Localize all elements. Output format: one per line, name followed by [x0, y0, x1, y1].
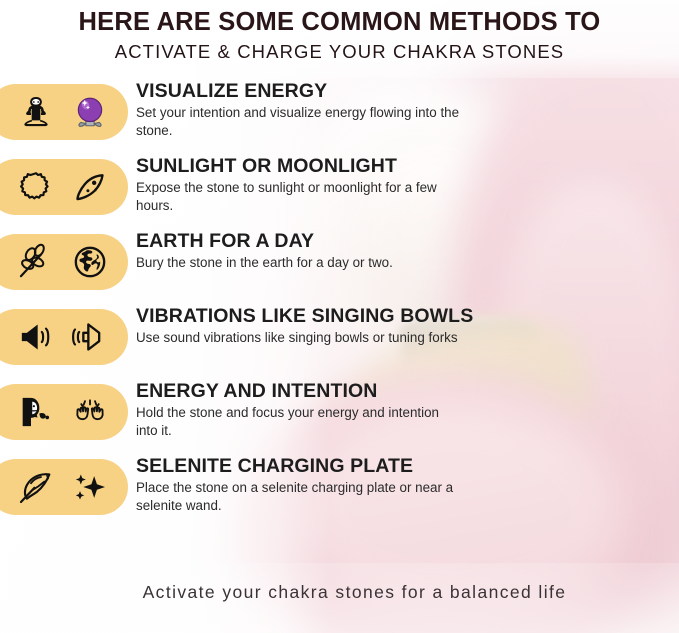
method-text: SUNLIGHT OR MOONLIGHT Expose the stone t…: [136, 155, 671, 214]
speaker-right-icon: [70, 317, 110, 357]
feather-quill-icon: [16, 467, 56, 507]
page-title: HERE ARE SOME COMMON METHODS TO: [0, 9, 679, 36]
method-description: Use sound vibrations like singing bowls …: [136, 329, 466, 346]
speaker-left-icon: [16, 317, 56, 357]
method-icon-badge: [0, 84, 128, 140]
method-icon-badge: [0, 159, 128, 215]
method-row: EARTH FOR A DAY Bury the stone in the ea…: [0, 228, 679, 303]
footer-tagline: Activate your chakra stones for a balanc…: [143, 582, 567, 603]
method-row: VIBRATIONS LIKE SINGING BOWLS Use sound …: [0, 303, 679, 378]
sparkles-icon: [70, 467, 110, 507]
infographic-page: HERE ARE SOME COMMON METHODS TO ACTIVATE…: [0, 0, 679, 633]
footer: Activate your chakra stones for a balanc…: [0, 582, 679, 603]
blowing-face-icon: [16, 392, 56, 432]
method-title: SUNLIGHT OR MOONLIGHT: [136, 155, 671, 177]
method-description: Set your intention and visualize energy …: [136, 104, 466, 138]
method-row: SELENITE CHARGING PLATE Place the stone …: [0, 453, 679, 528]
page-subtitle: ACTIVATE & CHARGE YOUR CHAKRA STONES: [0, 42, 679, 62]
method-description: Expose the stone to sunlight or moonligh…: [136, 179, 466, 213]
method-text: VIBRATIONS LIKE SINGING BOWLS Use sound …: [136, 305, 671, 347]
method-icon-badge: [0, 459, 128, 515]
method-icon-badge: [0, 234, 128, 290]
method-title: VIBRATIONS LIKE SINGING BOWLS: [136, 305, 671, 327]
globe-icon: [70, 242, 110, 282]
sun-icon: [16, 167, 56, 207]
method-title: ENERGY AND INTENTION: [136, 380, 671, 402]
method-row: SUNLIGHT OR MOONLIGHT Expose the stone t…: [0, 153, 679, 228]
method-title: EARTH FOR A DAY: [136, 230, 671, 252]
method-text: EARTH FOR A DAY Bury the stone in the ea…: [136, 230, 671, 272]
method-icon-badge: [0, 309, 128, 365]
method-title: SELENITE CHARGING PLATE: [136, 455, 671, 477]
method-row: VISUALIZE ENERGY Set your intention and …: [0, 78, 679, 153]
method-text: VISUALIZE ENERGY Set your intention and …: [136, 80, 671, 139]
header: HERE ARE SOME COMMON METHODS TO ACTIVATE…: [0, 0, 679, 62]
method-description: Hold the stone and focus your energy and…: [136, 404, 458, 438]
raised-hands-icon: [70, 392, 110, 432]
methods-list: VISUALIZE ENERGY Set your intention and …: [0, 78, 679, 528]
method-title: VISUALIZE ENERGY: [136, 80, 671, 102]
meditating-person-icon: [16, 92, 56, 132]
crystal-ball-icon: [70, 92, 110, 132]
method-text: SELENITE CHARGING PLATE Place the stone …: [136, 455, 671, 514]
crescent-moon-icon: [70, 167, 110, 207]
method-row: ENERGY AND INTENTION Hold the stone and …: [0, 378, 679, 453]
method-description: Place the stone on a selenite charging p…: [136, 479, 458, 513]
method-description: Bury the stone in the earth for a day or…: [136, 254, 466, 271]
method-icon-badge: [0, 384, 128, 440]
leaf-branch-icon: [16, 242, 56, 282]
method-text: ENERGY AND INTENTION Hold the stone and …: [136, 380, 671, 439]
